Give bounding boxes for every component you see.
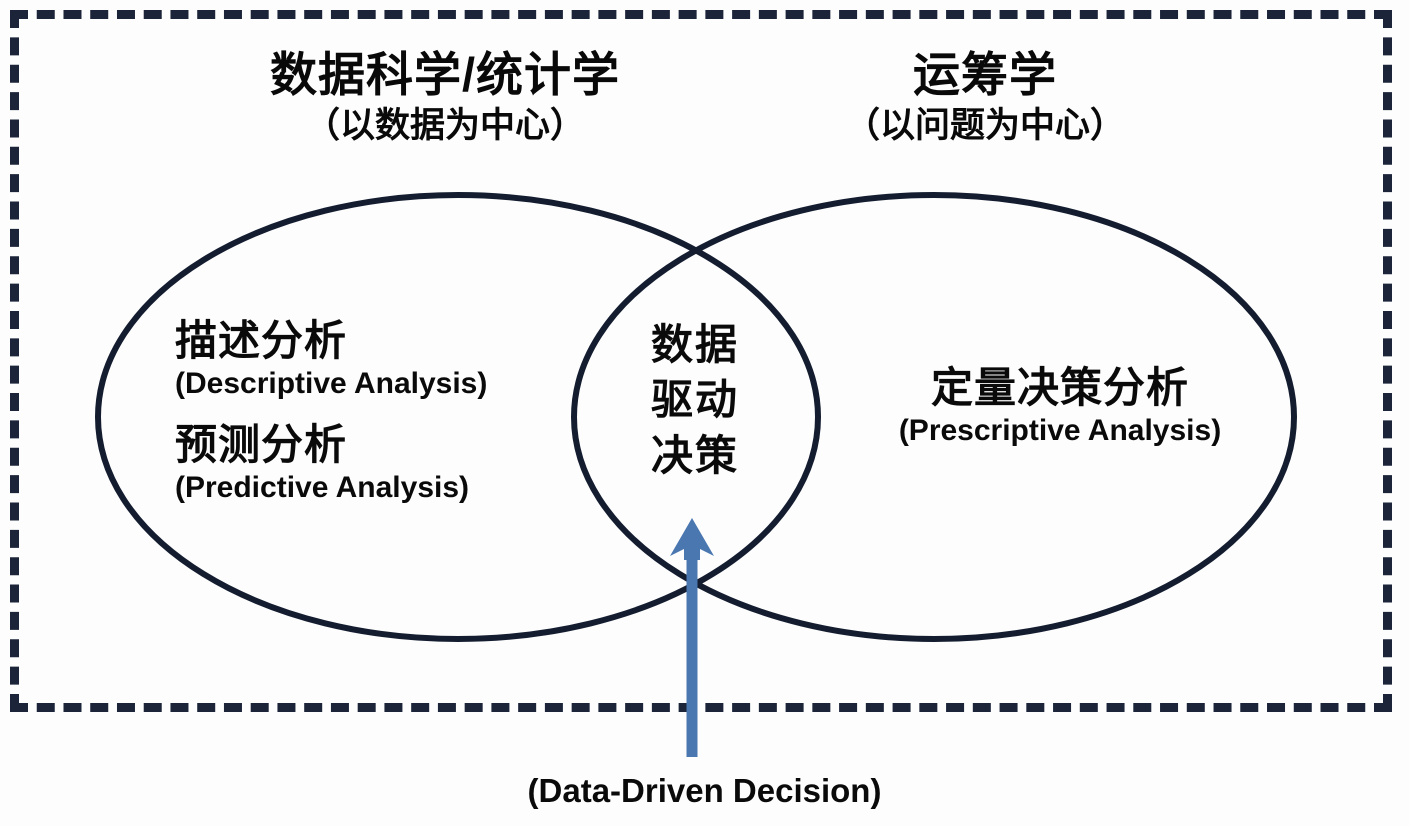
intersection-line-0: 数据 <box>620 317 770 372</box>
left-item-1-en: (Predictive Analysis) <box>175 471 575 506</box>
spacer <box>175 402 575 422</box>
data-driven-decision-arrow <box>670 518 714 757</box>
right-set-cn: 定量决策分析 <box>860 365 1260 411</box>
diagram-canvas: 数据科学/统计学 （以数据为中心） 运筹学 （以问题为中心） 描述分析 (Des… <box>0 0 1409 826</box>
intersection-content: 数据 驱动 决策 <box>620 317 770 483</box>
intersection-line-2: 决策 <box>620 428 770 483</box>
bottom-caption: (Data-Driven Decision) <box>0 772 1409 810</box>
left-item-1-cn: 预测分析 <box>175 422 575 468</box>
left-item-0-en: (Descriptive Analysis) <box>175 367 575 402</box>
left-set-content: 描述分析 (Descriptive Analysis) 预测分析 (Predic… <box>175 318 575 505</box>
arrow-head <box>670 518 714 560</box>
left-item-0-cn: 描述分析 <box>175 318 575 364</box>
right-set-content: 定量决策分析 (Prescriptive Analysis) <box>860 365 1260 449</box>
right-set-en: (Prescriptive Analysis) <box>860 414 1260 449</box>
intersection-line-1: 驱动 <box>620 372 770 427</box>
